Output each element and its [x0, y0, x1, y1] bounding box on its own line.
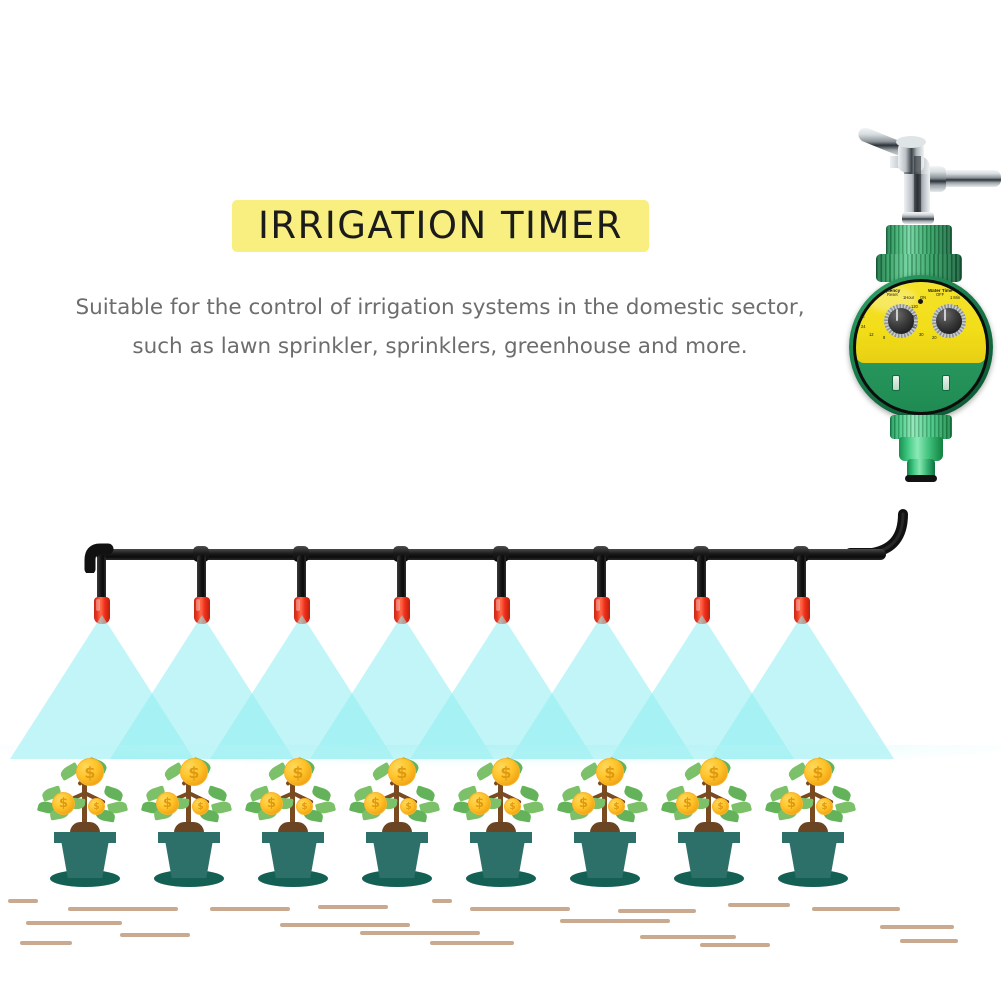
water-time-dial[interactable] — [932, 304, 966, 338]
ground-dash — [728, 903, 790, 907]
ground-dash — [26, 921, 122, 925]
leaf — [207, 785, 228, 801]
page-title: IRRIGATION TIMER — [232, 199, 649, 251]
frequency-dial[interactable] — [884, 304, 918, 338]
water-time-dial-knob[interactable] — [936, 308, 962, 334]
coin-large: $ — [284, 758, 312, 786]
coin-large: $ — [596, 758, 624, 786]
money-plant: $$$ — [338, 752, 456, 897]
pot-body — [165, 840, 213, 878]
plant-row: $$$$$$$$$$$$$$$$$$$$$$$$ — [0, 752, 1001, 897]
coin-large: $ — [388, 758, 416, 786]
coin-small: $ — [88, 798, 105, 815]
pot-body — [581, 840, 629, 878]
leaf — [311, 785, 332, 801]
coin-medium: $ — [156, 792, 179, 815]
subtitle-line-2: such as lawn sprinkler, sprinklers, gree… — [40, 327, 840, 366]
spray-pattern — [0, 615, 1001, 775]
ground-texture — [0, 895, 1001, 945]
outlet-collar — [890, 415, 952, 439]
frequency-label-reset: Reset — [887, 292, 898, 297]
coin-small: $ — [192, 798, 209, 815]
ground-dash — [210, 907, 290, 911]
water-time-label-on: ON — [920, 295, 926, 300]
sprinkler-drop-tube — [397, 555, 406, 603]
coin-large: $ — [700, 758, 728, 786]
ground-dash — [560, 919, 670, 923]
leaf — [623, 785, 644, 801]
money-plant: $$$ — [130, 752, 248, 897]
frequency-tick-8: 8 — [883, 335, 885, 340]
ground-dash — [880, 925, 954, 929]
spray-cone — [710, 615, 894, 759]
money-plant: $$$ — [26, 752, 144, 897]
coin-large: $ — [804, 758, 832, 786]
sprinkler-drop-tube — [497, 555, 506, 603]
sprinkler-drop-tube — [597, 555, 606, 603]
coin-medium: $ — [364, 792, 387, 815]
money-plant: $$$ — [650, 752, 768, 897]
coin-medium: $ — [572, 792, 595, 815]
frequency-tick-24: 24 — [861, 324, 866, 329]
ground-dash — [812, 907, 900, 911]
water-time-tick-90: 90 — [912, 314, 917, 319]
leaf — [415, 785, 436, 801]
coin-small: $ — [400, 798, 417, 815]
pot-body — [789, 840, 837, 878]
ground-dash — [360, 931, 480, 935]
ground-dash — [20, 941, 72, 945]
device-face: Frequency Week Reset 1Hour 72 48 24 12 8… — [856, 282, 986, 412]
battery-slot-right — [942, 375, 950, 391]
sprinkler-hose-network — [0, 455, 1001, 625]
ground-dash — [640, 935, 736, 939]
coin-small: $ — [608, 798, 625, 815]
frequency-tick-12: 12 — [869, 332, 874, 337]
pot-body — [477, 840, 525, 878]
ground-dash — [68, 907, 178, 911]
leaf — [519, 785, 540, 801]
water-time-label-1min: 1 Min — [950, 295, 960, 300]
coin-medium: $ — [260, 792, 283, 815]
coin-large: $ — [76, 758, 104, 786]
frequency-dial-pointer — [896, 309, 898, 321]
ground-dash — [120, 933, 190, 937]
ground-dash — [470, 907, 570, 911]
pot-body — [61, 840, 109, 878]
sprinkler-drop-tube — [97, 555, 106, 603]
coin-medium: $ — [52, 792, 75, 815]
leaf — [727, 785, 748, 801]
coin-small: $ — [504, 798, 521, 815]
coin-medium: $ — [780, 792, 803, 815]
water-time-tick-20: 20 — [932, 335, 937, 340]
money-plant: $$$ — [442, 752, 560, 897]
ground-dash — [318, 905, 388, 909]
water-time-tick-30: 30 — [919, 332, 924, 337]
inlet-collar-upper — [886, 225, 952, 257]
main-hose-line — [96, 549, 886, 560]
pot-body — [685, 840, 733, 878]
ground-dash — [280, 923, 410, 927]
sprinkler-drop-tube — [197, 555, 206, 603]
pot-body — [269, 840, 317, 878]
sprinkler-drop-tube — [797, 555, 806, 603]
sprinkler-drop-tube — [297, 555, 306, 603]
ground-dash — [432, 899, 452, 903]
leaf — [103, 785, 124, 801]
coin-small: $ — [296, 798, 313, 815]
coin-small: $ — [712, 798, 729, 815]
ground-dash — [430, 941, 514, 945]
money-plant: $$$ — [754, 752, 872, 897]
money-plant: $$$ — [546, 752, 664, 897]
battery-slot-left — [892, 375, 900, 391]
ground-dash — [900, 939, 958, 943]
frequency-label-1hour: 1Hour — [903, 295, 914, 300]
water-time-tick-60: 60 — [912, 324, 917, 329]
coin-large: $ — [180, 758, 208, 786]
coin-small: $ — [816, 798, 833, 815]
water-time-tick-120: 120 — [911, 304, 918, 309]
frequency-tick-48: 48 — [860, 314, 865, 319]
ground-dash — [700, 943, 770, 947]
subtitle-line-1: Suitable for the control of irrigation s… — [40, 288, 840, 327]
frequency-label-week: Week — [865, 295, 875, 300]
coin-medium: $ — [676, 792, 699, 815]
water-time-label-off: OFF — [936, 292, 944, 297]
sprinkler-drop-tube — [697, 555, 706, 603]
coin-large: $ — [492, 758, 520, 786]
infographic-canvas: IRRIGATION TIMER Suitable for the contro… — [0, 0, 1001, 1001]
pot-body — [373, 840, 421, 878]
ground-dash — [8, 899, 38, 903]
frequency-tick-72: 72 — [860, 304, 865, 309]
ground-dash — [618, 909, 696, 913]
money-plant: $$$ — [234, 752, 352, 897]
water-time-dial-pointer — [944, 309, 946, 321]
coin-medium: $ — [468, 792, 491, 815]
subtitle: Suitable for the control of irrigation s… — [40, 288, 840, 366]
frequency-dial-knob[interactable] — [888, 308, 914, 334]
leaf — [831, 785, 852, 801]
